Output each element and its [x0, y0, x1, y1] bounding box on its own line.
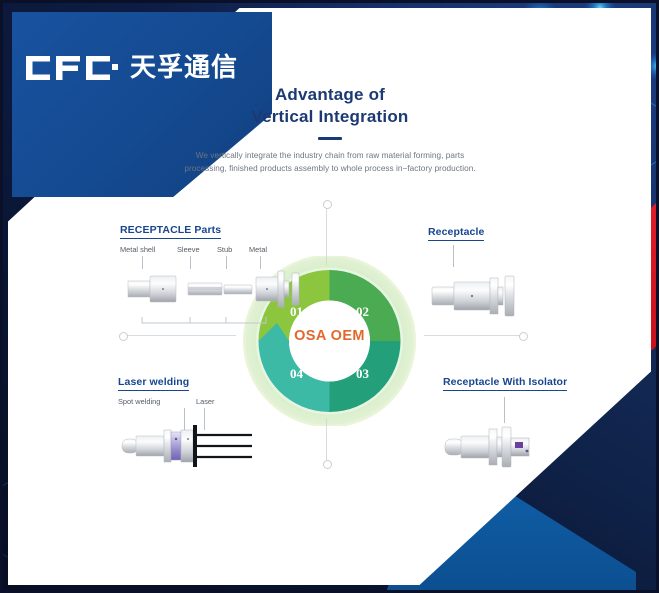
section-receptacle-with-isolator: Receptacle With Isolator: [443, 372, 573, 477]
brand-logo: 天孚通信: [24, 52, 238, 84]
receptacle-illustration: [428, 269, 538, 325]
connector-line-right: [424, 335, 522, 336]
part-label-spot-welding: Spot welding: [118, 397, 160, 406]
connector-node-right: [519, 332, 528, 341]
connector-node-top: [323, 200, 332, 209]
page-description: We vertically integrate the industry cha…: [180, 149, 480, 176]
part-label-metal-shell: Metal shell: [120, 245, 155, 254]
section-receptacle: Receptacle: [428, 222, 538, 325]
section-laser-welding: Laser welding Spot welding Laser: [118, 372, 278, 477]
part-label-metal: Metal: [249, 245, 267, 254]
section-title-receptacle-parts: RECEPTACLE Parts: [120, 224, 221, 239]
page-title-line2: Vertical Integration: [251, 107, 408, 126]
connector-line-left: [126, 335, 236, 336]
section-title-laser-welding: Laser welding: [118, 376, 189, 391]
donut-label-04: 04: [290, 366, 304, 381]
page-title: Advantage of Vertical Integration: [180, 84, 480, 129]
laser-welding-illustration: [118, 419, 278, 479]
donut-label-02: 02: [356, 304, 369, 319]
brand-logo-chinese: 天孚通信: [130, 55, 238, 81]
title-divider: [318, 137, 342, 140]
receptacle-with-isolator-illustration: [443, 421, 573, 479]
leader-line-isolator: [504, 397, 505, 423]
part-label-sleeve: Sleeve: [177, 245, 200, 254]
section-title-receptacle-with-isolator: Receptacle With Isolator: [443, 376, 567, 391]
section-receptacle-parts: RECEPTACLE Parts Metal shell Sleeve Stub…: [120, 220, 310, 335]
connector-node-bottom: [323, 460, 332, 469]
part-label-stub: Stub: [217, 245, 232, 254]
section-title-receptacle: Receptacle: [428, 226, 484, 241]
headline-block: Advantage of Vertical Integration We ver…: [180, 84, 480, 175]
infographic-poster: 天孚通信 Advantage of Vertical Integration W…: [0, 0, 659, 593]
page-title-line1: Advantage of: [275, 85, 385, 104]
donut-label-03: 03: [356, 366, 370, 381]
cfc-logo-icon: [24, 52, 120, 84]
receptacle-parts-illustration: [120, 263, 310, 333]
leader-line-receptacle: [453, 245, 454, 267]
part-label-laser: Laser: [196, 397, 215, 406]
